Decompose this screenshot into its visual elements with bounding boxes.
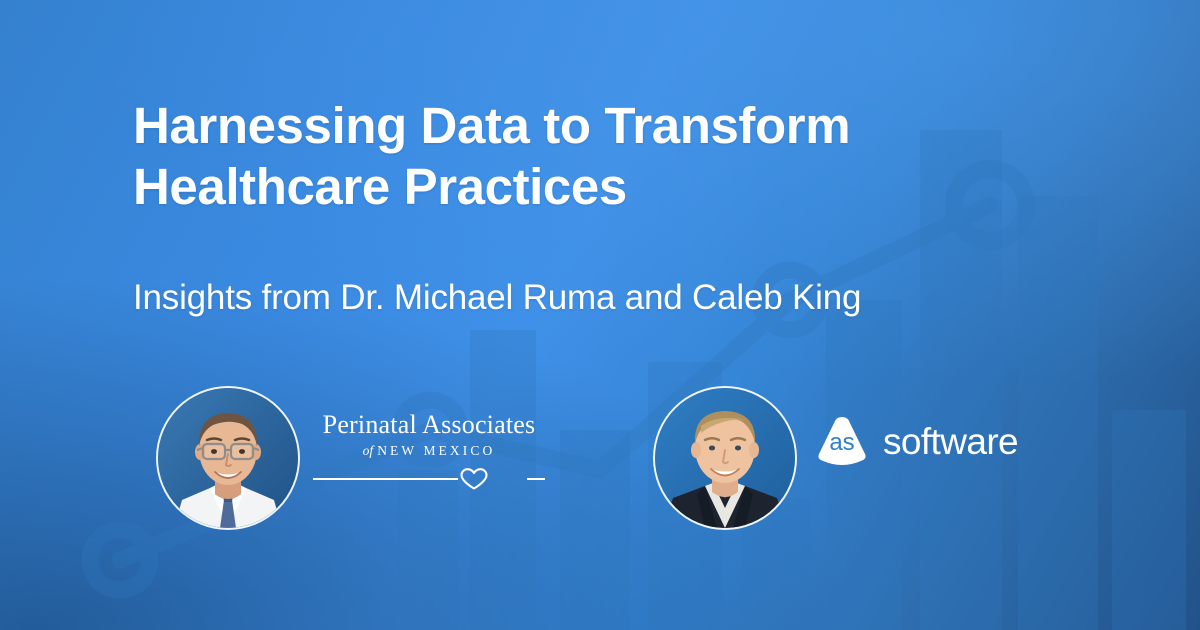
avatar bbox=[158, 388, 298, 528]
logo-perinatal-associates: Perinatal Associates ofNEW MEXICO bbox=[313, 412, 545, 491]
page-subtitle: Insights from Dr. Michael Ruma and Caleb… bbox=[133, 277, 1113, 319]
rule-right-segment bbox=[527, 478, 545, 480]
logo-perinatal-of: of bbox=[363, 443, 374, 458]
logo-perinatal-rule bbox=[313, 467, 545, 491]
ultrasound-cone-icon: as bbox=[813, 415, 871, 467]
page-title: Harnessing Data to Transform Healthcare … bbox=[133, 96, 1063, 217]
logo-as-mark-text: as bbox=[829, 429, 854, 456]
logo-perinatal-state: NEW MEXICO bbox=[377, 443, 495, 458]
avatar bbox=[655, 388, 795, 528]
promo-banner: Harnessing Data to Transform Healthcare … bbox=[0, 0, 1200, 630]
rule-left-segment bbox=[313, 478, 458, 480]
logo-as-software-wordmark: software bbox=[883, 423, 1018, 460]
heart-icon bbox=[456, 467, 492, 491]
logo-perinatal-subline: ofNEW MEXICO bbox=[313, 444, 545, 458]
footer-row: Perinatal Associates ofNEW MEXICO bbox=[0, 385, 1200, 535]
logo-perinatal-name: Perinatal Associates bbox=[313, 412, 545, 438]
logo-as-software: as software bbox=[813, 415, 1018, 467]
